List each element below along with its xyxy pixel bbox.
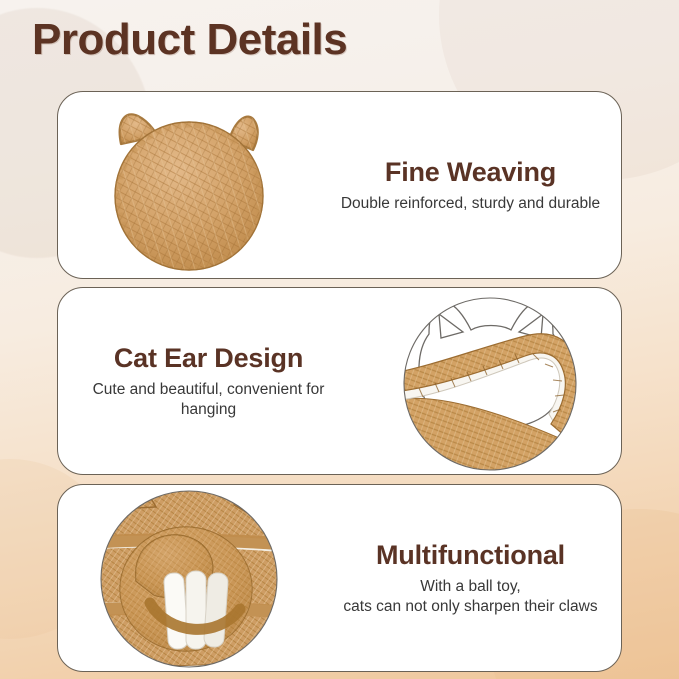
product-image-round-woven-cat-mat <box>58 92 320 278</box>
feature-heading: Cat Ear Design <box>68 342 349 374</box>
feature-subtitle: Cute and beautiful, convenient for hangi… <box>68 380 349 420</box>
round-woven-cat-mat-icon <box>58 92 320 279</box>
feature-text-multifunctional: Multifunctional With a ball toy, cats ca… <box>320 539 621 618</box>
product-image-cat-ear-closeup <box>359 288 621 474</box>
feature-subtitle: Double reinforced, sturdy and durable <box>330 194 611 214</box>
feature-card-cat-ear-design: Cat Ear Design Cute and beautiful, conve… <box>57 287 622 475</box>
page-title: Product Details <box>32 12 347 67</box>
feature-text-fine-weaving: Fine Weaving Double reinforced, sturdy a… <box>320 156 621 215</box>
cat-ear-closeup-icon <box>359 288 621 475</box>
feature-card-fine-weaving: Fine Weaving Double reinforced, sturdy a… <box>57 91 622 279</box>
feature-heading: Fine Weaving <box>330 156 611 188</box>
feature-card-multifunctional: Multifunctional With a ball toy, cats ca… <box>57 484 622 672</box>
rope-ball-toy-icon <box>58 485 320 672</box>
infographic-page: Product Details <box>0 0 679 679</box>
feature-subtitle: With a ball toy, cats can not only sharp… <box>330 577 611 617</box>
product-image-rope-ball-toy <box>58 485 320 671</box>
feature-text-cat-ear-design: Cat Ear Design Cute and beautiful, conve… <box>58 342 359 421</box>
feature-heading: Multifunctional <box>330 539 611 571</box>
